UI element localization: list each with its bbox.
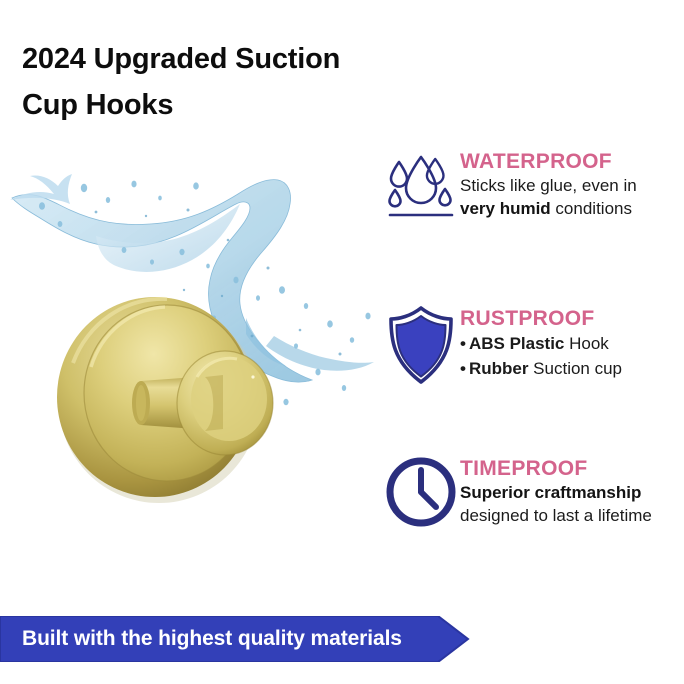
shield-icon-wrap xyxy=(382,305,460,385)
bullet-marker: • xyxy=(460,334,469,353)
feature-rustproof-heading: RUSTPROOF xyxy=(460,306,684,331)
gold-hook-graphic xyxy=(55,285,285,510)
feature-rustproof-bullet-2-bold: Rubber xyxy=(469,359,529,378)
bullet-marker: • xyxy=(460,359,469,378)
feature-waterproof-line-2: very humid conditions xyxy=(460,197,684,220)
infographic-page: 2024 Upgraded Suction Cup Hooks xyxy=(0,0,684,684)
feature-waterproof-line-2-bold: very humid xyxy=(460,199,551,218)
water-droplets-icon xyxy=(386,148,456,220)
feature-waterproof-line-2-normal: conditions xyxy=(551,199,632,218)
feature-timeproof-line-1: Superior craftmanship xyxy=(460,481,684,504)
clock-icon xyxy=(384,455,458,529)
page-title-line-1: 2024 Upgraded Suction xyxy=(22,36,442,82)
shield-icon xyxy=(387,305,455,385)
feature-timeproof-heading: TIMEPROOF xyxy=(460,456,684,481)
feature-waterproof: WATERPROOF Sticks like glue, even in ver… xyxy=(382,148,684,220)
feature-timeproof-line-2: designed to last a lifetime xyxy=(460,504,684,527)
feature-waterproof-heading: WATERPROOF xyxy=(460,149,684,174)
feature-rustproof: RUSTPROOF •ABS Plastic Hook •Rubber Suct… xyxy=(382,305,684,385)
page-title: 2024 Upgraded Suction Cup Hooks xyxy=(22,36,442,128)
feature-timeproof-text: TIMEPROOF Superior craftmanship designed… xyxy=(460,455,684,527)
feature-rustproof-bullet-1: •ABS Plastic Hook xyxy=(460,331,684,356)
feature-waterproof-line-1-normal: Sticks like glue, even in xyxy=(460,176,637,195)
bottom-banner: Built with the highest quality materials xyxy=(0,616,470,662)
feature-rustproof-bullet-2-normal: Suction cup xyxy=(528,359,622,378)
feature-timeproof-line-2-normal: designed to last a lifetime xyxy=(460,506,652,525)
clock-icon-wrap xyxy=(382,455,460,529)
water-droplets-icon-wrap xyxy=(382,148,460,220)
feature-waterproof-text: WATERPROOF Sticks like glue, even in ver… xyxy=(460,148,684,220)
feature-rustproof-text: RUSTPROOF •ABS Plastic Hook •Rubber Suct… xyxy=(460,305,684,381)
product-image xyxy=(0,140,380,540)
page-title-line-2: Cup Hooks xyxy=(22,82,442,128)
banner-text: Built with the highest quality materials xyxy=(22,616,402,662)
feature-timeproof: TIMEPROOF Superior craftmanship designed… xyxy=(382,455,684,529)
feature-rustproof-bullet-1-normal: Hook xyxy=(564,334,608,353)
feature-waterproof-line-1: Sticks like glue, even in xyxy=(460,174,684,197)
feature-rustproof-bullet-2: •Rubber Suction cup xyxy=(460,356,684,381)
feature-rustproof-bullet-1-bold: ABS Plastic xyxy=(469,334,564,353)
feature-timeproof-line-1-bold: Superior craftmanship xyxy=(460,483,641,502)
